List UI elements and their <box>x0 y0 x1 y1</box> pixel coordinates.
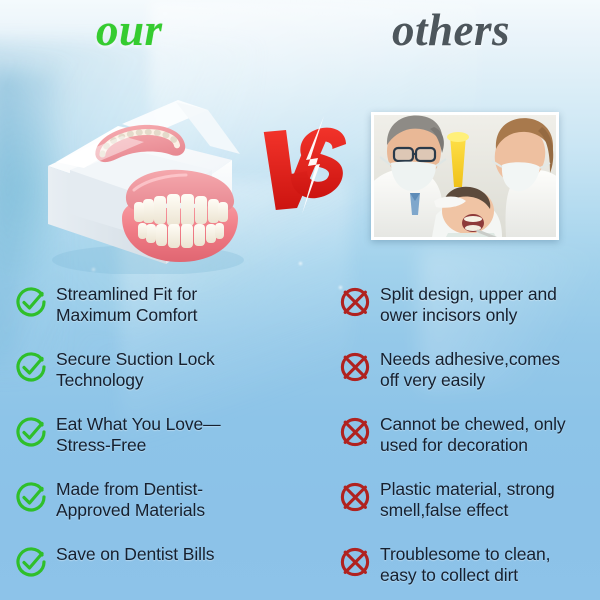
list-item: Troublesome to clean, easy to collect di… <box>334 544 600 590</box>
x-circle-icon <box>339 546 371 578</box>
x-circle-icon <box>339 351 371 383</box>
list-item-label: Streamlined Fit for Maximum Comfort <box>56 284 197 327</box>
list-item: Streamlined Fit for Maximum Comfort <box>0 284 300 330</box>
list-item-label: Secure Suction Lock Technology <box>56 349 215 392</box>
list-item-label: Save on Dentist Bills <box>56 544 214 565</box>
header-row: our others <box>0 0 600 76</box>
list-item: Cannot be chewed, only used for decorati… <box>334 414 600 460</box>
comparison-infographic: our others <box>0 0 600 600</box>
list-item: Save on Dentist Bills <box>0 544 300 590</box>
list-item: Split design, upper and ower incisors on… <box>334 284 600 330</box>
list-item: Made from Dentist- Approved Materials <box>0 479 300 525</box>
list-item: Needs adhesive,comes off very easily <box>334 349 600 395</box>
x-circle-icon <box>339 481 371 513</box>
list-item-label: Cannot be chewed, only used for decorati… <box>380 414 566 457</box>
x-circle-icon <box>339 286 371 318</box>
x-circle-icon <box>339 416 371 448</box>
check-circle-icon <box>15 416 47 448</box>
check-circle-icon <box>15 481 47 513</box>
background-sparkle <box>299 262 302 265</box>
list-item: Eat What You Love— Stress-Free <box>0 414 300 460</box>
list-item-label: Plastic material, strong smell,false eff… <box>380 479 555 522</box>
check-circle-icon <box>15 286 47 318</box>
list-item: Secure Suction Lock Technology <box>0 349 300 395</box>
list-item-label: Needs adhesive,comes off very easily <box>380 349 560 392</box>
list-item-label: Eat What You Love— Stress-Free <box>56 414 221 457</box>
pros-column: Streamlined Fit for Maximum Comfort Secu… <box>0 284 300 590</box>
list-item-label: Split design, upper and ower incisors on… <box>380 284 557 327</box>
list-item-label: Made from Dentist- Approved Materials <box>56 479 205 522</box>
header-our: our <box>96 8 163 53</box>
list-item-label: Troublesome to clean, easy to collect di… <box>380 544 550 587</box>
header-others: others <box>392 8 510 53</box>
dental-procedure-photo <box>371 112 559 240</box>
vs-badge <box>262 116 358 214</box>
check-circle-icon <box>15 351 47 383</box>
cons-column: Split design, upper and ower incisors on… <box>334 284 600 590</box>
list-item: Plastic material, strong smell,false eff… <box>334 479 600 525</box>
check-circle-icon <box>15 546 47 578</box>
denture-in-white-box-image <box>26 74 266 274</box>
